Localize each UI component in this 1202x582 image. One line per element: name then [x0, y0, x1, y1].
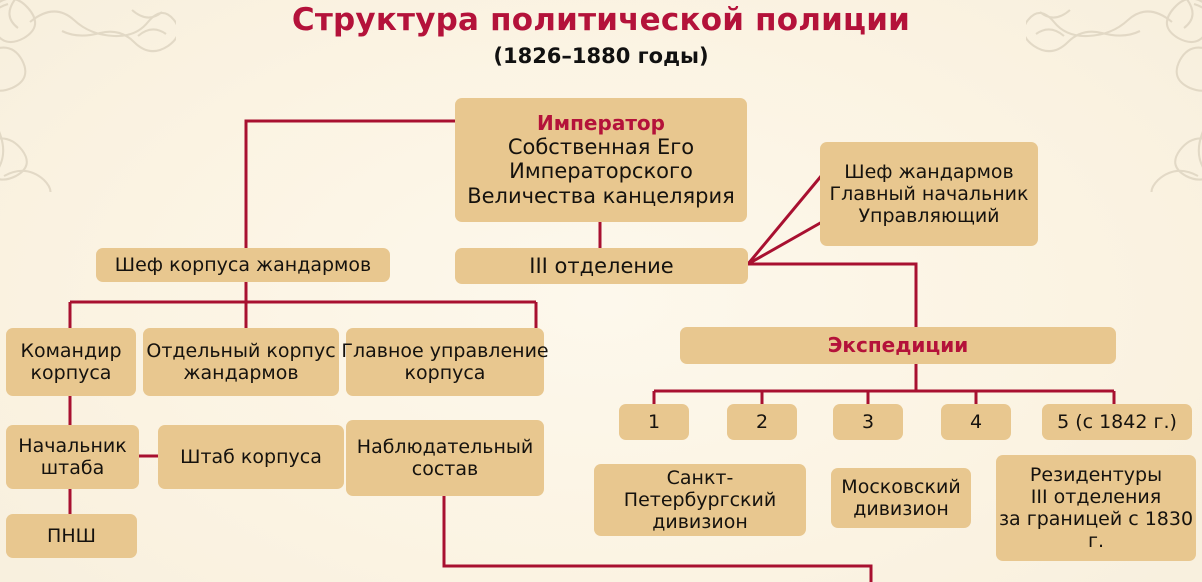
node-residencies[interactable]: Резидентуры III отделения за границей с … [996, 455, 1196, 561]
node-residencies-line-2: III отделения [1031, 486, 1161, 508]
node-emperor[interactable]: Император Собственная Его Императорского… [455, 98, 747, 222]
node-expedition-2[interactable]: 2 [727, 404, 797, 440]
edge-gendarme-chief-to-third-section-b [748, 222, 822, 264]
node-expedition-3-label: 3 [862, 411, 874, 433]
node-msk-division-line-2: дивизион [853, 498, 949, 520]
node-third-section-label: III отделение [529, 254, 673, 278]
node-expedition-2-label: 2 [756, 411, 768, 433]
node-corps-chief-label: Шеф корпуса жандармов [115, 254, 371, 276]
node-spb-division-line-3: дивизион [652, 511, 748, 533]
node-corps-staff[interactable]: Штаб корпуса [158, 425, 344, 489]
node-staff-chief-line-1: Начальник [18, 435, 126, 457]
node-msk-division-line-1: Московский [841, 476, 960, 498]
page-subtitle: (1826–1880 годы) [0, 44, 1202, 68]
node-observers-line-2: состав [412, 458, 478, 480]
node-expedition-1-label: 1 [648, 411, 660, 433]
node-expedition-4[interactable]: 4 [941, 404, 1011, 440]
page-title: Структура политической полиции [0, 2, 1202, 38]
node-emperor-line-1: Собственная Его [508, 135, 694, 159]
node-expeditions[interactable]: Экспедиции [680, 327, 1116, 364]
node-expedition-3[interactable]: 3 [833, 404, 903, 440]
node-msk-division[interactable]: Московский дивизион [831, 468, 971, 528]
node-separate-corps-line-2: жандармов [183, 362, 298, 384]
diagram-canvas: Структура политической полиции (1826–188… [0, 0, 1202, 582]
node-corps-commander-line-2: корпуса [31, 362, 112, 384]
node-staff-chief-line-2: штаба [41, 457, 104, 479]
node-pnsh[interactable]: ПНШ [6, 514, 137, 558]
node-gendarme-chief-line-3: Управляющий [858, 205, 999, 227]
node-residencies-line-4: г. [1088, 530, 1104, 552]
node-expedition-1[interactable]: 1 [619, 404, 689, 440]
node-spb-division-line-2: Петербургский [624, 489, 776, 511]
node-emperor-line-2: Императорского [509, 159, 693, 183]
node-emperor-line-3: Величества канцелярия [467, 184, 735, 208]
node-gendarme-chief-line-2: Главный начальник [830, 183, 1029, 205]
node-main-admin-line-2: корпуса [405, 362, 486, 384]
node-residencies-line-3: за границей с 1830 [999, 508, 1193, 530]
node-corps-staff-label: Штаб корпуса [180, 446, 322, 468]
edge-gendarme-chief-to-third-section-a [748, 175, 822, 264]
node-observers[interactable]: Наблюдательный состав [346, 420, 544, 496]
node-spb-division-line-1: Санкт- [667, 467, 734, 489]
edge-third-section-to-expeditions [748, 264, 916, 327]
node-expedition-5-label: 5 (с 1842 г.) [1057, 411, 1177, 433]
node-gendarme-chief-line-1: Шеф жандармов [844, 161, 1013, 183]
node-spb-division[interactable]: Санкт- Петербургский дивизион [594, 464, 806, 536]
node-corps-commander-line-1: Командир [20, 340, 121, 362]
node-gendarme-chief[interactable]: Шеф жандармов Главный начальник Управляю… [820, 142, 1038, 246]
node-expedition-4-label: 4 [970, 411, 982, 433]
node-pnsh-label: ПНШ [47, 525, 96, 547]
node-main-admin-line-1: Главное управление [341, 340, 548, 362]
node-corps-chief[interactable]: Шеф корпуса жандармов [96, 248, 390, 282]
node-staff-chief[interactable]: Начальник штаба [6, 425, 139, 489]
node-expeditions-label: Экспедиции [828, 334, 969, 357]
node-corps-commander[interactable]: Командир корпуса [6, 328, 136, 396]
node-emperor-title: Император [537, 112, 665, 135]
node-expedition-5[interactable]: 5 (с 1842 г.) [1042, 404, 1192, 440]
node-residencies-line-1: Резидентуры [1030, 464, 1162, 486]
node-third-section[interactable]: III отделение [455, 248, 748, 284]
node-separate-corps[interactable]: Отдельный корпус жандармов [143, 328, 339, 396]
node-main-admin[interactable]: Главное управление корпуса [346, 328, 544, 396]
node-observers-line-1: Наблюдательный [357, 436, 533, 458]
node-separate-corps-line-1: Отдельный корпус [146, 340, 335, 362]
